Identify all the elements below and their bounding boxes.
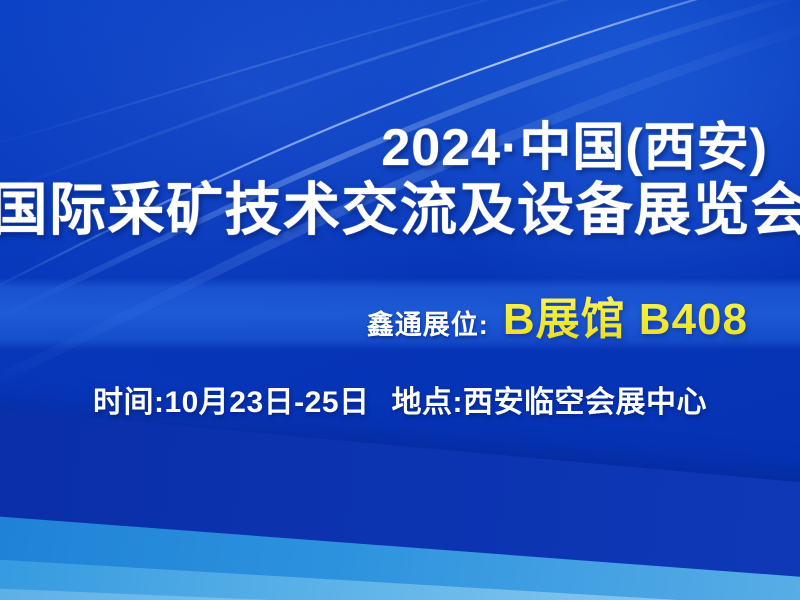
event-date: 时间:10月23日-25日	[93, 377, 370, 421]
event-title-line-2: 国际采矿技术交流及设备展览会	[0, 182, 800, 239]
booth-number: B展馆 B408	[503, 283, 748, 347]
event-meta-row: 时间:10月23日-25日 地点:西安临空会展中心	[93, 377, 707, 421]
booth-info-row: 鑫通展位: B展馆 B408	[367, 283, 748, 347]
event-title-line-1: 2024·中国(西安)	[381, 122, 768, 174]
exhibition-banner: 2024·中国(西安) 国际采矿技术交流及设备展览会 鑫通展位: B展馆 B40…	[0, 0, 800, 600]
event-venue: 地点:西安临空会展中心	[392, 377, 708, 421]
banner-content: 2024·中国(西安) 国际采矿技术交流及设备展览会 鑫通展位: B展馆 B40…	[0, 0, 800, 600]
booth-label: 鑫通展位:	[367, 303, 489, 342]
